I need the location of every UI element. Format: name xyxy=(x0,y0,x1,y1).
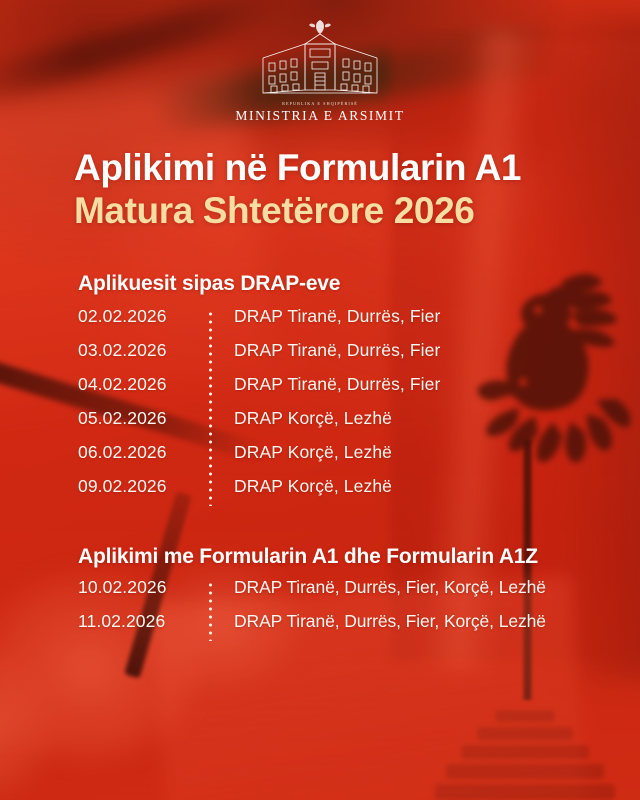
row-date: 09.02.2026 xyxy=(78,476,209,497)
row-date: 05.02.2026 xyxy=(78,408,209,429)
row-date: 10.02.2026 xyxy=(78,577,209,598)
poster-content: REPUBLIKA E SHQIPËRISË MINISTRIA E ARSIM… xyxy=(0,0,640,800)
table-row: 09.02.2026 DRAP Korçë, Lezhë xyxy=(78,476,622,510)
section-a1-and-a1z: Aplikimi me Formularin A1 dhe Formularin… xyxy=(78,545,622,645)
logo-republic-line: REPUBLIKA E SHQIPËRISË xyxy=(282,101,358,106)
dotted-separator xyxy=(209,581,212,641)
table-row: 05.02.2026 DRAP Korçë, Lezhë xyxy=(78,408,622,442)
table-row: 04.02.2026 DRAP Tiranë, Durrës, Fier xyxy=(78,374,622,408)
row-date: 02.02.2026 xyxy=(78,306,209,327)
row-date: 11.02.2026 xyxy=(78,611,209,632)
title-line-2: Matura Shtetërore 2026 xyxy=(74,191,620,230)
row-place: DRAP Tiranë, Durrës, Fier, Korçë, Lezhë xyxy=(209,611,546,632)
table-row: 10.02.2026 DRAP Tiranë, Durrës, Fier, Ko… xyxy=(78,577,622,611)
ministry-building-emblem-icon xyxy=(245,18,395,100)
section-1-schedule-table: 02.02.2026 DRAP Tiranë, Durrës, Fier 03.… xyxy=(78,306,622,510)
section-applicants-by-drap: Aplikuesit sipas DRAP-eve 02.02.2026 DRA… xyxy=(78,272,622,510)
dotted-separator xyxy=(209,310,212,506)
row-date: 03.02.2026 xyxy=(78,340,209,361)
table-row: 03.02.2026 DRAP Tiranë, Durrës, Fier xyxy=(78,340,622,374)
table-row: 11.02.2026 DRAP Tiranë, Durrës, Fier, Ko… xyxy=(78,611,622,645)
section-2-schedule-table: 10.02.2026 DRAP Tiranë, Durrës, Fier, Ko… xyxy=(78,577,622,645)
section-1-heading: Aplikuesit sipas DRAP-eve xyxy=(78,272,622,296)
poster-title: Aplikimi në Formularin A1 Matura Shtetër… xyxy=(74,148,620,230)
row-place: DRAP Korçë, Lezhë xyxy=(209,476,392,497)
row-place: DRAP Tiranë, Durrës, Fier, Korçë, Lezhë xyxy=(209,577,546,598)
ministry-logo: REPUBLIKA E SHQIPËRISË MINISTRIA E ARSIM… xyxy=(0,18,640,124)
logo-ministry-name: MINISTRIA E ARSIMIT xyxy=(235,108,404,124)
row-place: DRAP Korçë, Lezhë xyxy=(209,408,392,429)
row-place: DRAP Korçë, Lezhë xyxy=(209,442,392,463)
row-place: DRAP Tiranë, Durrës, Fier xyxy=(209,374,440,395)
section-2-heading: Aplikimi me Formularin A1 dhe Formularin… xyxy=(78,545,622,569)
table-row: 06.02.2026 DRAP Korçë, Lezhë xyxy=(78,442,622,476)
title-line-1: Aplikimi në Formularin A1 xyxy=(74,148,620,187)
table-row: 02.02.2026 DRAP Tiranë, Durrës, Fier xyxy=(78,306,622,340)
poster: REPUBLIKA E SHQIPËRISË MINISTRIA E ARSIM… xyxy=(0,0,640,800)
row-place: DRAP Tiranë, Durrës, Fier xyxy=(209,340,440,361)
row-date: 04.02.2026 xyxy=(78,374,209,395)
row-place: DRAP Tiranë, Durrës, Fier xyxy=(209,306,440,327)
row-date: 06.02.2026 xyxy=(78,442,209,463)
